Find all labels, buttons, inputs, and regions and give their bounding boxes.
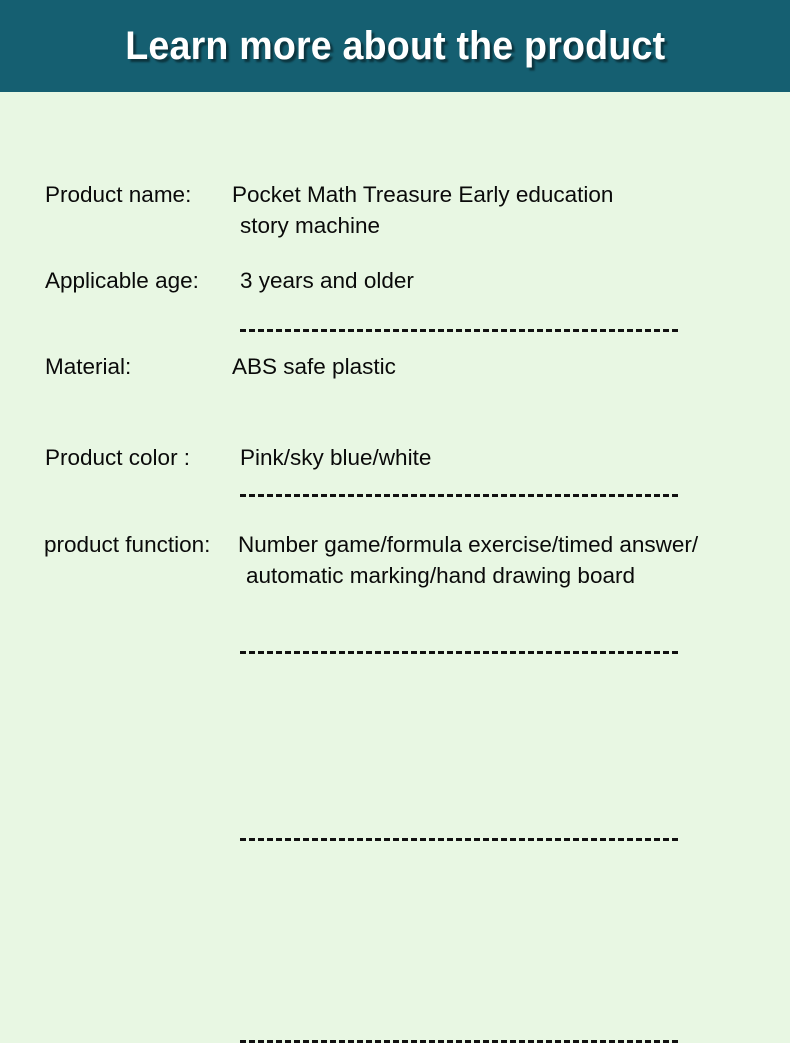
spec-value-material: ABS safe plastic [232, 351, 396, 382]
spec-divider-product-color [240, 838, 678, 841]
spec-value-product-function-line-2: automatic marking/hand drawing board [238, 560, 698, 591]
spec-value-group-product-name: Pocket Math Treasure Early education sto… [232, 179, 613, 241]
spec-label-material: Material: [45, 351, 131, 382]
spec-divider-product-name [240, 329, 678, 332]
spec-label-product-color: Product color : [45, 442, 190, 473]
spec-value-group-product-color: Pink/sky blue/white [232, 442, 431, 473]
spec-divider-applicable-age [240, 494, 678, 497]
spec-value-group-product-function: Number game/formula exercise/timed answe… [238, 529, 698, 591]
spec-label-product-name: Product name: [45, 179, 191, 210]
spec-value-product-name-line-1: Pocket Math Treasure Early education [232, 179, 613, 210]
spec-label-product-function: product function: [44, 529, 210, 560]
spec-value-product-function-line-1: Number game/formula exercise/timed answe… [238, 529, 698, 560]
spec-value-applicable-age: 3 years and older [232, 265, 414, 296]
spec-divider-material [240, 651, 678, 654]
spec-label-applicable-age: Applicable age: [45, 265, 199, 296]
spec-value-group-applicable-age: 3 years and older [232, 265, 414, 296]
product-spec-page: Learn more about the product Product nam… [0, 0, 790, 726]
spec-value-group-material: ABS safe plastic [232, 351, 396, 382]
spec-value-product-color: Pink/sky blue/white [232, 442, 431, 473]
page-header-banner: Learn more about the product [0, 0, 790, 92]
spec-value-product-name-line-2: story machine [232, 210, 613, 241]
page-title: Learn more about the product [125, 24, 665, 69]
